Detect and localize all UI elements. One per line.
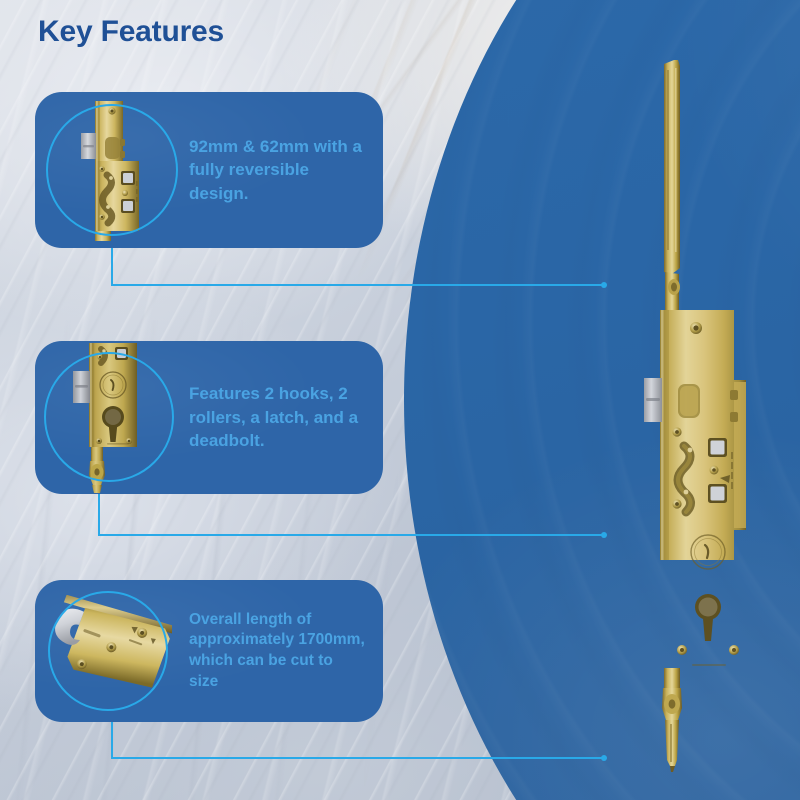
feature-card-1: 92mm & 62mm with a fully reversible desi… — [35, 92, 383, 248]
feature-image-1 — [35, 92, 185, 248]
page-title: Key Features — [38, 15, 224, 49]
feature-card-2: Features 2 hooks, 2 rollers, a latch, an… — [35, 341, 383, 494]
feature-image-3 — [35, 580, 185, 722]
circle-outline — [48, 591, 168, 711]
connector-horizontal-segment — [98, 534, 603, 536]
connector-endpoint-dot — [601, 282, 607, 288]
multipoint-lock-photo — [634, 60, 754, 772]
connector-vertical-segment — [111, 716, 113, 759]
connector-vertical-segment — [111, 244, 113, 286]
connector-horizontal-segment — [111, 757, 603, 759]
feature-text-1: 92mm & 62mm with a fully reversible desi… — [185, 135, 383, 205]
circle-outline — [46, 104, 178, 236]
circle-outline — [44, 352, 174, 482]
connector-horizontal-segment — [111, 284, 603, 286]
connector-endpoint-dot — [601, 532, 607, 538]
feature-text-2: Features 2 hooks, 2 rollers, a latch, an… — [185, 382, 383, 452]
connector-vertical-segment — [98, 488, 100, 536]
connector-endpoint-dot — [601, 755, 607, 761]
feature-card-3: Overall length of approximately 1700mm, … — [35, 580, 383, 722]
infographic-canvas: Key Features — [0, 0, 800, 800]
feature-text-3: Overall length of approximately 1700mm, … — [185, 610, 383, 692]
feature-image-2 — [35, 341, 185, 494]
